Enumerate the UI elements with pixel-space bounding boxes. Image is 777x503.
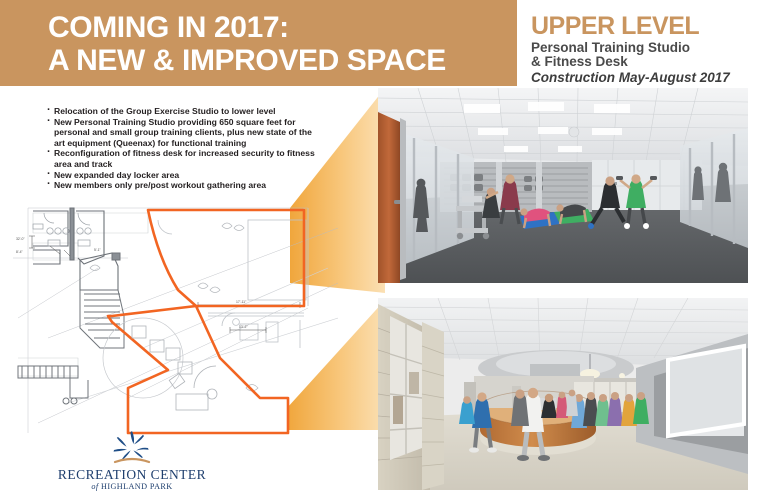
svg-text:8'-4": 8'-4"	[16, 250, 24, 254]
logo-subname: of HIGHLAND PARK	[48, 482, 216, 492]
fitness-desk-rendering	[378, 298, 748, 490]
bullet-line: personal and small group training client…	[54, 127, 322, 138]
level-subtitle-line-2: & Fitness Desk	[531, 55, 771, 69]
svg-text:13'-2": 13'-2"	[239, 325, 248, 329]
logo: RECREATION CENTER of HIGHLAND PARK	[48, 428, 216, 492]
bullet-item: New members only pre/post workout gather…	[47, 180, 322, 191]
svg-text:5'-1": 5'-1"	[94, 248, 102, 252]
upper-level-floor-plan: 17'-11" 13'-2" 32'-0" 8'-4" 5'-1"	[8, 198, 338, 443]
level-title: UPPER LEVEL	[531, 14, 771, 39]
logo-sub-text: HIGHLAND PARK	[101, 482, 173, 491]
poster: COMING IN 2017: A NEW & IMPROVED SPACE U…	[0, 0, 777, 503]
bullet-line: Relocation of the Group Exercise Studio …	[54, 106, 322, 117]
bullet-line: New Personal Training Studio providing 6…	[54, 117, 322, 128]
page-title: COMING IN 2017: A NEW & IMPROVED SPACE	[48, 11, 508, 77]
construction-dates: Construction May-August 2017	[531, 70, 771, 85]
svg-text:32'-0": 32'-0"	[16, 237, 25, 241]
bullet-line: New expanded day locker area	[54, 170, 322, 181]
logo-sub-prefix: of	[91, 482, 98, 491]
svg-text:17'-11": 17'-11"	[236, 300, 247, 304]
feature-bullet-list: Relocation of the Group Exercise Studio …	[47, 106, 322, 191]
bullet-item: Relocation of the Group Exercise Studio …	[47, 106, 322, 117]
bullet-line: area and track	[54, 159, 322, 170]
level-subtitle-line-1: Personal Training Studio	[531, 40, 690, 55]
bullet-line: New members only pre/post workout gather…	[54, 180, 322, 191]
bullet-item: New Personal Training Studio providing 6…	[47, 117, 322, 149]
bullet-item: New expanded day locker area	[47, 170, 322, 181]
headline-line-2: A NEW & IMPROVED SPACE	[48, 44, 508, 77]
bullet-line: Reconfiguration of fitness desk for incr…	[54, 148, 322, 159]
personal-training-studio-rendering	[378, 88, 748, 283]
headline-line-1: COMING IN 2017:	[48, 11, 508, 44]
bullet-line: art equipment (Queenax) for functional t…	[54, 138, 322, 149]
bullet-item: Reconfiguration of fitness desk for incr…	[47, 148, 322, 169]
logo-name: RECREATION CENTER	[48, 467, 216, 482]
pinwheel-icon	[109, 428, 155, 466]
level-heading-block: UPPER LEVEL Personal Training Studio & F…	[531, 14, 771, 85]
level-subtitle: Personal Training Studio & Fitness Desk	[531, 41, 771, 69]
